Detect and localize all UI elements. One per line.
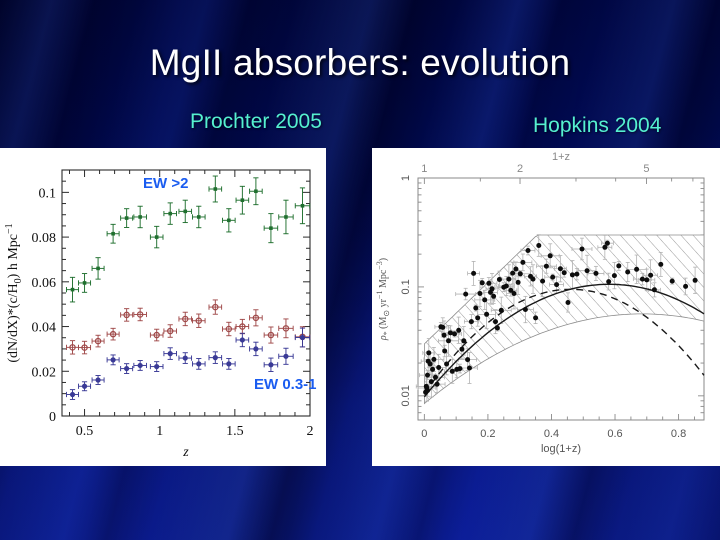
data-point: [594, 271, 599, 276]
data-point: [183, 356, 187, 360]
data-point: [562, 270, 567, 275]
data-point: [442, 333, 447, 338]
top-x-tick-label: 5: [643, 163, 649, 175]
data-point: [425, 388, 430, 393]
data-point: [125, 216, 129, 220]
page-title: MgII absorbers: evolution: [0, 42, 720, 84]
data-point: [436, 365, 441, 370]
data-point: [155, 364, 159, 368]
data-point: [138, 215, 142, 219]
data-point: [461, 338, 466, 343]
data-point: [465, 357, 470, 362]
data-point: [648, 273, 653, 278]
prochter-2005-plot-svg: 0.511.52z00.020.040.060.080.1(dN/dX)*(c/…: [0, 148, 326, 466]
y-tick-label: 0.1: [39, 186, 57, 201]
data-point: [227, 362, 231, 366]
data-point: [435, 382, 440, 387]
y-tick-label: 0.1: [400, 279, 412, 294]
x-tick-label: 0: [421, 428, 427, 440]
data-point: [523, 307, 528, 312]
data-point: [520, 260, 525, 265]
data-point: [426, 350, 431, 355]
data-point: [499, 308, 504, 313]
data-point: [269, 226, 273, 230]
data-point: [491, 294, 496, 299]
data-point: [428, 362, 433, 367]
data-point: [433, 375, 438, 380]
data-point: [566, 300, 571, 305]
data-point: [497, 277, 502, 282]
data-point: [570, 272, 575, 277]
data-point: [214, 187, 218, 191]
data-point: [558, 266, 563, 271]
y-tick-label: 0.02: [32, 365, 57, 380]
data-point: [616, 263, 621, 268]
data-point: [444, 362, 449, 367]
data-point: [652, 287, 657, 292]
data-point: [125, 366, 129, 370]
x-tick-label: 1: [156, 424, 163, 439]
svg-text:ρ* (M⊙ yr−1 Mpc−3): ρ* (M⊙ yr−1 Mpc−3): [375, 258, 391, 341]
data-point: [429, 379, 434, 384]
data-point: [640, 277, 645, 282]
data-point: [531, 277, 536, 282]
data-point: [300, 335, 304, 339]
data-point: [693, 278, 698, 283]
data-point: [510, 271, 515, 276]
data-point: [495, 326, 500, 331]
data-point: [254, 189, 258, 193]
data-point: [463, 292, 468, 297]
data-point: [227, 219, 231, 223]
data-point: [425, 373, 430, 378]
hopkins-2004-chart: 00.20.40.60.8log(1+z)1251+z0.010.11ρ* (M…: [372, 148, 720, 466]
prochter-2005-chart: 0.511.52z00.020.040.060.080.1(dN/dX)*(c/…: [0, 148, 326, 466]
data-point: [634, 267, 639, 272]
data-point: [469, 319, 474, 324]
x-tick-label: 1.5: [226, 424, 244, 439]
data-point: [550, 275, 555, 280]
y-tick-label: 0.06: [32, 276, 57, 291]
data-point: [240, 338, 244, 342]
data-point: [442, 349, 447, 354]
x-tick-label: 2: [307, 424, 314, 439]
data-point: [493, 319, 498, 324]
x-tick-label: 0.8: [671, 428, 686, 440]
data-point: [254, 347, 258, 351]
x-axis-label: log(1+z): [541, 443, 581, 455]
data-point: [506, 277, 511, 282]
y-tick-label: 0: [49, 410, 56, 425]
data-point: [452, 331, 457, 336]
data-point: [96, 378, 100, 382]
data-point: [512, 291, 517, 296]
data-point: [183, 210, 187, 214]
data-point: [168, 352, 172, 356]
data-point: [168, 212, 172, 216]
data-point: [480, 280, 485, 285]
left-chart-credit: Prochter 2005: [190, 110, 322, 134]
y-tick-label: 0.04: [32, 321, 57, 336]
data-point: [518, 271, 523, 276]
data-point: [478, 291, 483, 296]
data-point: [241, 198, 245, 202]
data-point: [612, 273, 617, 278]
data-point: [301, 204, 305, 208]
hopkins-2004-plot-svg: 00.20.40.60.8log(1+z)1251+z0.010.11ρ* (M…: [372, 148, 720, 466]
series-1: [67, 176, 310, 302]
data-point: [658, 262, 663, 267]
y-tick-label: 0.01: [400, 385, 412, 406]
x-tick-label: 0.2: [480, 428, 495, 440]
data-point: [430, 367, 435, 372]
y-tick-label: 0.08: [32, 231, 57, 246]
data-point: [431, 357, 436, 362]
data-point: [475, 315, 480, 320]
data-point: [457, 366, 462, 371]
right-chart-credit: Hopkins 2004: [533, 114, 661, 138]
x-axis-label: z: [182, 445, 189, 460]
data-point: [644, 277, 649, 282]
data-point: [683, 284, 688, 289]
top-x-tick-label: 2: [517, 163, 523, 175]
data-point: [540, 279, 545, 284]
data-point: [533, 315, 538, 320]
data-point: [473, 306, 478, 311]
series-2: [67, 300, 310, 354]
data-point: [585, 268, 590, 273]
y-axis-label: (dN/dX)*(c/H0) h Mpc−1: [4, 223, 24, 362]
data-point: [467, 366, 472, 371]
data-point: [606, 279, 611, 284]
data-point: [213, 356, 217, 360]
data-point: [269, 363, 273, 367]
data-point: [516, 280, 521, 285]
data-point: [482, 297, 487, 302]
data-point: [450, 369, 455, 374]
data-point: [111, 232, 115, 236]
data-point: [486, 281, 491, 286]
data-point: [580, 247, 585, 252]
data-point: [484, 312, 489, 317]
data-point: [544, 264, 549, 269]
data-point: [96, 267, 100, 271]
data-point: [554, 282, 559, 287]
uncertainty-band: [424, 235, 704, 404]
data-point: [526, 248, 531, 253]
data-point: [197, 362, 201, 366]
x-tick-label: 0.5: [76, 424, 94, 439]
svg-text:(dN/dX)*(c/H0) h Mpc−1: (dN/dX)*(c/H0) h Mpc−1: [4, 223, 24, 362]
annotation-ew-high: EW >2: [143, 175, 188, 192]
data-point: [504, 284, 509, 289]
data-point: [625, 270, 630, 275]
data-point: [471, 271, 476, 276]
data-point: [446, 338, 451, 343]
data-point: [284, 215, 288, 219]
x-tick-label: 0.6: [607, 428, 622, 440]
data-point: [111, 358, 115, 362]
data-point: [138, 363, 142, 367]
data-point: [82, 384, 86, 388]
data-point: [70, 392, 74, 396]
data-point: [536, 243, 541, 248]
data-point: [83, 281, 87, 285]
x-tick-label: 0.4: [544, 428, 559, 440]
top-axis-label: 1+z: [552, 151, 570, 163]
data-point: [197, 215, 201, 219]
data-point: [605, 241, 610, 246]
top-x-tick-label: 1: [421, 163, 427, 175]
data-point: [459, 347, 464, 352]
data-point: [71, 288, 75, 292]
annotation-ew-low: EW 0.3-1: [254, 376, 317, 393]
y-tick-label: 1: [400, 175, 412, 181]
data-point: [440, 325, 445, 330]
data-point: [490, 286, 495, 291]
data-point: [456, 328, 461, 333]
data-point: [155, 235, 159, 239]
data-point: [574, 272, 579, 277]
y-axis-label: ρ* (M⊙ yr−1 Mpc−3): [375, 258, 391, 341]
data-point: [284, 354, 288, 358]
data-point: [513, 267, 518, 272]
data-point: [670, 279, 675, 284]
data-point: [548, 253, 553, 258]
